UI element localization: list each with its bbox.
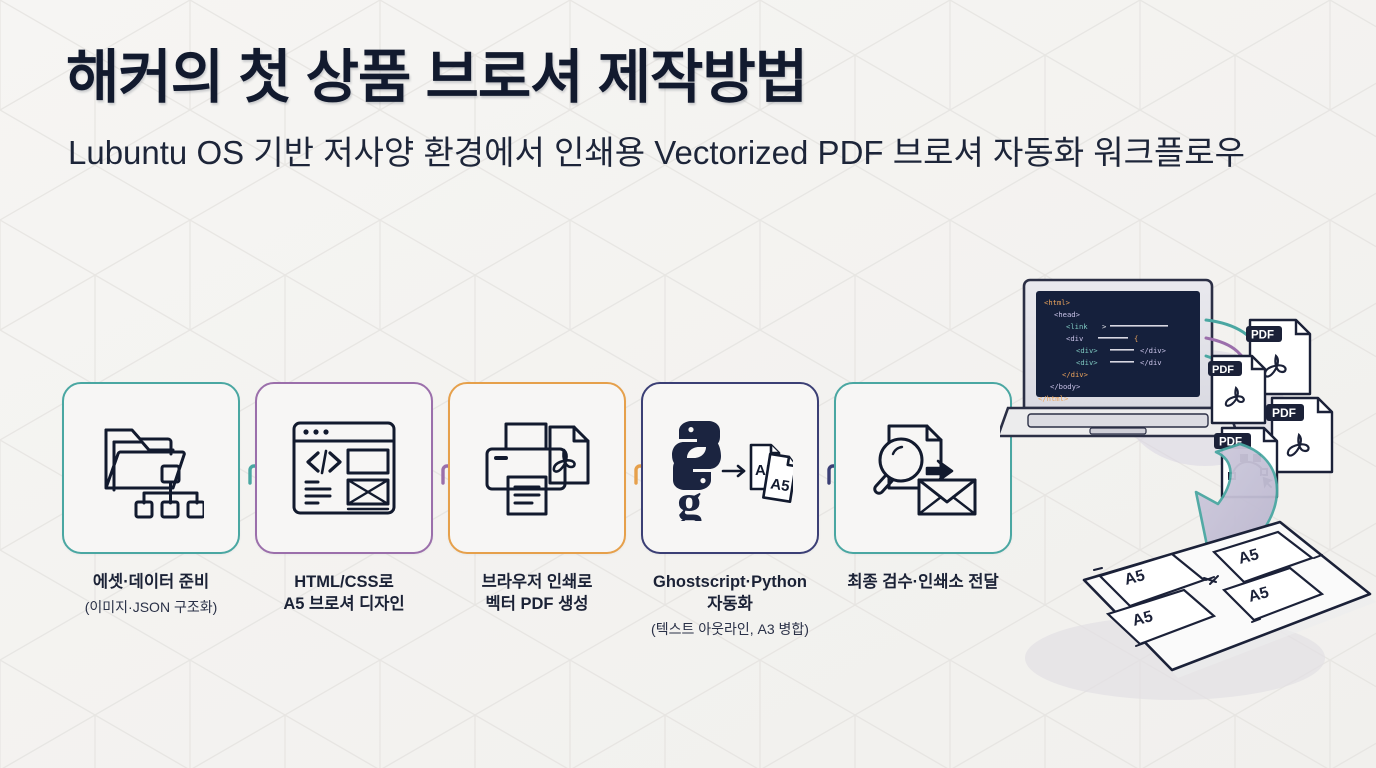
browser-code-layout-icon — [290, 418, 398, 518]
svg-text:A5: A5 — [769, 476, 791, 496]
workflow-step-3[interactable]: 브라우저 인쇄로 벡터 PDF 생성 — [448, 382, 626, 616]
svg-text:g: g — [677, 474, 702, 521]
step-4-label: Ghostscript·Python 자동화 — [641, 572, 819, 616]
step-4-sublabel: (텍스트 아웃라인, A3 병합) — [641, 620, 819, 638]
svg-text:<div>: <div> — [1076, 358, 1098, 367]
step-2-label-line2: A5 브로셔 디자인 — [283, 595, 404, 613]
workflow-step-1[interactable]: 에셋·데이터 준비 (이미지·JSON 구조화) — [62, 382, 240, 616]
step-3-label-line1: 브라우저 인쇄로 — [482, 573, 593, 591]
svg-text:>: > — [1102, 322, 1107, 331]
slide-header: 해커의 첫 상품 브로셔 제작방법 Lubuntu OS 기반 저사양 환경에서… — [66, 44, 1326, 173]
step-4-label-line1: Ghostscript·Python — [653, 573, 807, 591]
svg-text:</div>: </div> — [1140, 346, 1167, 355]
step-1-sublabel: (이미지·JSON 구조화) — [62, 598, 240, 616]
workflow-step-5[interactable]: 최종 검수·인쇄소 전달 — [834, 382, 1012, 594]
pdf-file-2: PDF — [1208, 356, 1265, 423]
svg-text:</div: </div — [1140, 358, 1162, 367]
step-3-card[interactable] — [448, 382, 626, 554]
step-2-label-line1: HTML/CSS로 — [294, 573, 394, 591]
svg-text:<head>: <head> — [1054, 310, 1081, 319]
step-2-card[interactable] — [255, 382, 433, 554]
step-1-card[interactable] — [62, 382, 240, 554]
folder-tree-icon — [98, 416, 204, 520]
svg-text:<div: <div — [1066, 334, 1083, 343]
page-subtitle: Lubuntu OS 기반 저사양 환경에서 인쇄용 Vectorized PD… — [68, 133, 1326, 173]
step-1-label: 에셋·데이터 준비 — [62, 572, 240, 594]
slide-canvas: 해커의 첫 상품 브로셔 제작방법 Lubuntu OS 기반 저사양 환경에서… — [0, 0, 1376, 768]
laptop-with-code: <html> <head> <link > <div { <div> </div… — [1000, 280, 1238, 436]
workflow-step-2[interactable]: HTML/CSS로 A5 브로셔 디자인 — [255, 382, 433, 616]
step-5-label: 최종 검수·인쇄소 전달 — [834, 572, 1012, 594]
step-4-label-line2: 자동화 — [707, 595, 753, 613]
svg-text:PDF: PDF — [1272, 406, 1296, 420]
pipeline-illustration: <html> <head> <link > <div { <div> </div… — [1000, 258, 1376, 728]
svg-text:<div>: <div> — [1076, 346, 1098, 355]
review-send-icon — [867, 418, 979, 518]
step-4-card[interactable]: g A5 A5 — [641, 382, 819, 554]
printer-pdf-icon — [482, 417, 592, 519]
step-5-card[interactable] — [834, 382, 1012, 554]
svg-text:PDF: PDF — [1212, 364, 1234, 376]
svg-text:{: { — [1134, 334, 1138, 343]
svg-text:</html>: </html> — [1038, 394, 1069, 403]
workflow-step-4[interactable]: g A5 A5 — [641, 382, 819, 638]
workflow-steps: 에셋·데이터 준비 (이미지·JSON 구조화) — [62, 382, 1002, 672]
page-title: 해커의 첫 상품 브로셔 제작방법 — [66, 44, 1326, 111]
svg-text:</body>: </body> — [1050, 382, 1081, 391]
svg-text:<html>: <html> — [1044, 298, 1071, 307]
step-3-label: 브라우저 인쇄로 벡터 PDF 생성 — [448, 572, 626, 616]
svg-text:<link: <link — [1066, 322, 1088, 331]
python-ghostscript-a5-icon: g A5 A5 — [667, 415, 793, 521]
step-3-label-line2: 벡터 PDF 생성 — [486, 595, 589, 613]
svg-text:PDF: PDF — [1251, 330, 1274, 342]
step-2-label: HTML/CSS로 A5 브로셔 디자인 — [255, 572, 433, 616]
svg-text:</div>: </div> — [1062, 370, 1089, 379]
